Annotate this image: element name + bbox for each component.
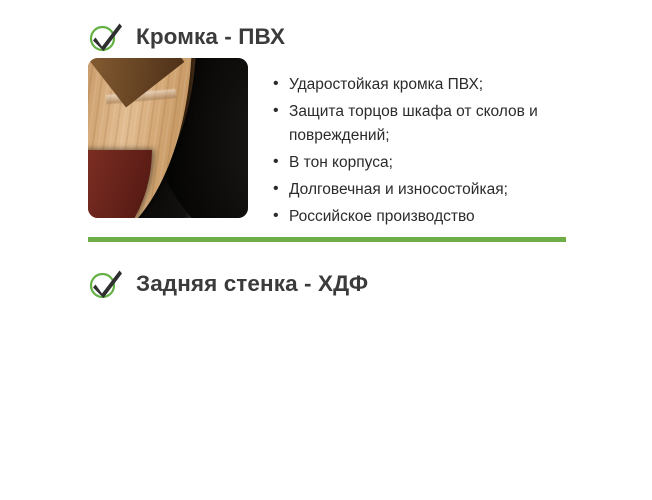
pvc-edge-banding-photo (88, 58, 248, 218)
check-circle-icon (88, 268, 124, 300)
product-features-page: Кромка - ПВХ Ударостойкая кромка ПВХ; За… (0, 0, 652, 500)
list-item: Ударостойкая кромка ПВХ; (272, 73, 572, 97)
pvc-photo-art (88, 58, 248, 218)
section-header-hdf-back-panel: Задняя стенка - ХДФ (88, 265, 368, 303)
check-circle-icon (88, 21, 124, 53)
pvc-photo-vignette (88, 58, 248, 218)
section-header-pvc-edge: Кромка - ПВХ (88, 18, 285, 56)
green-divider (88, 237, 566, 242)
list-item: Защита торцов шкафа от сколов и поврежде… (272, 100, 572, 147)
section-title: Кромка - ПВХ (136, 26, 285, 49)
feature-list-pvc-edge: Ударостойкая кромка ПВХ; Защита торцов ш… (272, 73, 572, 232)
list-item: В тон корпуса; (272, 151, 572, 175)
section-pvc-edge: Кромка - ПВХ Ударостойкая кромка ПВХ; За… (0, 0, 652, 232)
section-hdf-back-panel: Задняя стенка - ХДФ (0, 247, 652, 500)
list-item: Долговечная и износостойкая; (272, 178, 572, 202)
list-item: Российское производство (272, 205, 572, 229)
section-title: Задняя стенка - ХДФ (136, 273, 368, 296)
